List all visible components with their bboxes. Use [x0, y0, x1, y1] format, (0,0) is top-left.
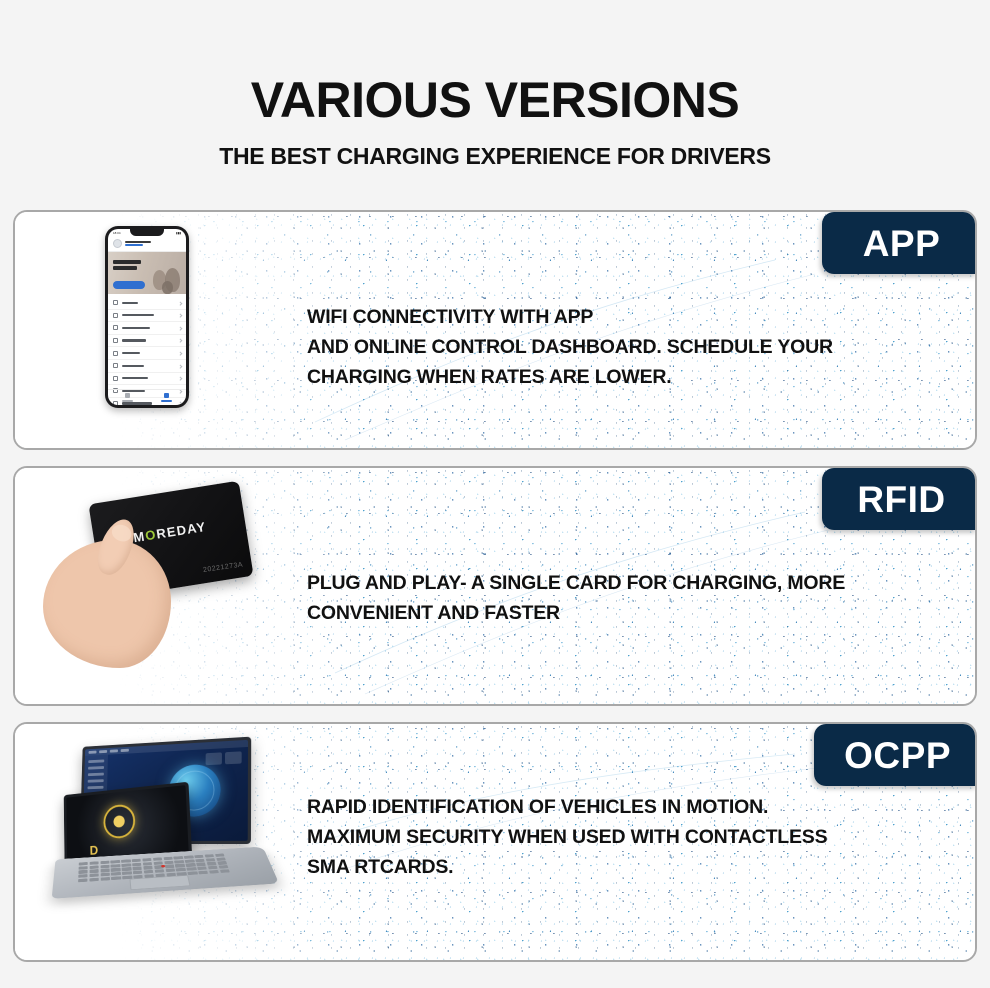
- banner-title: [113, 260, 141, 270]
- feature-panel-list: APP 18:04 ▮▮▮: [13, 210, 977, 978]
- badge-label: OCPP: [844, 737, 951, 774]
- promo-page: VARIOUS VERSIONS THE BEST CHARGING EXPER…: [0, 0, 990, 988]
- card-logo-accent: O: [144, 527, 158, 544]
- card-logo: MOREDAY: [132, 519, 207, 545]
- tab-home[interactable]: [108, 390, 147, 405]
- phone-upgrade-banner: [108, 252, 186, 294]
- home-icon: [125, 393, 130, 398]
- phone-account-text: [125, 241, 151, 246]
- screen-glyph: D: [90, 843, 101, 858]
- badge-label: APP: [863, 225, 941, 262]
- person-icon: [164, 393, 169, 398]
- smartphone-mockup: 18:04 ▮▮▮: [105, 226, 189, 408]
- chevron-right-icon: [178, 351, 182, 355]
- chevron-right-icon: [178, 377, 182, 381]
- badge-ocpp: OCPP: [814, 724, 977, 786]
- hand-holding-card: MOREDAY 20221273A: [43, 492, 273, 652]
- laptop-trackpad[interactable]: [129, 875, 190, 890]
- phone-notch: [130, 229, 164, 236]
- phone-account-row: [108, 235, 186, 252]
- media-rfid-card: MOREDAY 20221273A: [15, 468, 305, 704]
- page-title: VARIOUS VERSIONS: [0, 74, 990, 127]
- chevron-right-icon: [178, 314, 182, 318]
- list-item[interactable]: [108, 335, 186, 348]
- chevron-right-icon: [178, 339, 182, 343]
- list-item[interactable]: [108, 297, 186, 310]
- support-icon: [113, 338, 118, 343]
- chevron-right-icon: [178, 364, 182, 368]
- media-smartphone: 18:04 ▮▮▮: [15, 212, 305, 448]
- subscription-icon: [113, 313, 118, 318]
- tab-account[interactable]: [147, 390, 186, 405]
- star-icon: [113, 363, 118, 368]
- phone-signal-icon: ▮▮▮: [176, 231, 181, 235]
- feature-panel-ocpp: OCPP D: [13, 722, 977, 962]
- banner-figure: [162, 281, 173, 294]
- home-icon: [113, 300, 118, 305]
- badge-rfid: RFID: [822, 468, 977, 530]
- chevron-right-icon: [178, 301, 182, 305]
- phone-clock: 18:04: [113, 231, 121, 235]
- ring-graphic: [103, 804, 136, 840]
- page-subtitle: THE BEST CHARGING EXPERIENCE FOR DRIVERS: [0, 143, 990, 170]
- feature-panel-app: APP 18:04 ▮▮▮: [13, 210, 977, 450]
- media-laptop: D: [15, 724, 305, 960]
- icon-change-app: [113, 325, 118, 330]
- phone-screen: 18:04 ▮▮▮: [108, 229, 186, 405]
- phone-tab-bar: [108, 389, 186, 405]
- list-item[interactable]: [108, 360, 186, 373]
- share-icon: [113, 376, 118, 381]
- list-item[interactable]: [108, 310, 186, 323]
- badge-app: APP: [822, 212, 977, 274]
- list-item[interactable]: [108, 322, 186, 335]
- list-item[interactable]: [108, 347, 186, 360]
- panel-description: RAPID IDENTIFICATION OF VEHICLES IN MOTI…: [307, 792, 827, 882]
- badge-label: RFID: [857, 481, 945, 518]
- screen-widget-cards: [206, 751, 242, 765]
- feature-panel-rfid: RFID MOREDAY 20221273A PLUG AND PLAY- A …: [13, 466, 977, 706]
- list-item[interactable]: [108, 373, 186, 386]
- page-header: VARIOUS VERSIONS THE BEST CHARGING EXPER…: [0, 0, 990, 170]
- go-premium-button[interactable]: [113, 281, 145, 289]
- card-serial-number: 20221273A: [202, 561, 243, 574]
- panel-description: WIFI CONNECTIVITY WITH APP AND ONLINE CO…: [307, 302, 833, 392]
- mail-icon: [113, 351, 118, 356]
- laptop-mockup: D: [55, 740, 275, 910]
- avatar: [113, 239, 122, 248]
- panel-description: PLUG AND PLAY- A SINGLE CARD FOR CHARGIN…: [307, 568, 845, 628]
- chevron-right-icon: [178, 326, 182, 330]
